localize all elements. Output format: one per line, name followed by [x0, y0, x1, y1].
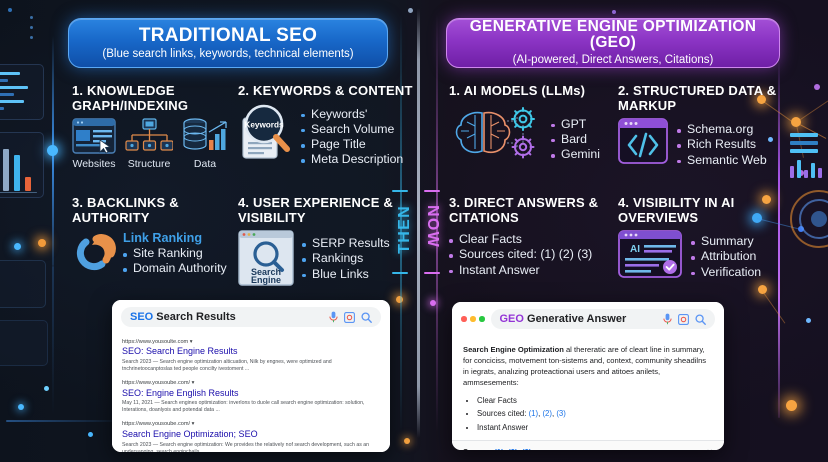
bullet-item: GPT — [551, 117, 600, 132]
network-node — [88, 432, 93, 437]
direct-answers-bullet-list: Clear Facts Sources cited: (1) (2) (3) I… — [449, 232, 624, 278]
bullet-item: Meta Description — [301, 152, 403, 167]
citation-3[interactable]: (3) — [556, 409, 566, 418]
geo-bullet-item: Instant Answer — [477, 421, 713, 434]
structure-icon-group: Structure — [125, 118, 173, 170]
now-label: NOW — [423, 205, 441, 248]
bullet-item: Summary — [691, 234, 761, 249]
source-citation-2[interactable]: (2) — [508, 448, 518, 450]
bullet-item: Site Ranking — [123, 246, 227, 261]
bullet-item: Domain Authority — [123, 261, 227, 276]
ai-models-bullet-list: GPT Bard Gemini — [551, 117, 600, 163]
circuit-rail — [6, 420, 126, 422]
quadrant-title: 3. DIRECT ANSWERS & CITATIONS — [449, 196, 624, 225]
geo-subtitle: (AI-powered, Direct Answers, Citations) — [513, 54, 714, 67]
search-result-item[interactable]: https://www.yousoube.com/ ▾ SEO: Engine … — [122, 380, 380, 414]
quadrant-ai-overviews: 4. VISIBILITY IN AI OVERVIEWS AI Summary… — [618, 196, 798, 280]
quadrant-keywords-content: 2. KEYWORDS & CONTENT Keywords Keywords'… — [238, 84, 413, 167]
quadrant-backlinks-authority: 3. BACKLINKS & AUTHORITY Link Ranking Si… — [72, 196, 237, 277]
traditional-seo-header: TRADITIONAL SEO (Blue search links, keyw… — [68, 18, 388, 68]
seo-query-rest: Search Results — [153, 311, 236, 323]
quadrant-title: 2. KEYWORDS & CONTENT — [238, 84, 413, 99]
glow-node — [18, 404, 24, 410]
geo-omnibox-text: GEO Generative Answer — [500, 313, 658, 325]
ai-overview-card-icon: AI — [618, 230, 682, 278]
structured-data-bullet-list: Schema.org Rich Results Semantic Web — [677, 122, 767, 168]
network-edge — [796, 100, 828, 123]
geo-bullet-item: Sources cited: (1), (2), (3) — [477, 407, 713, 420]
microphone-icon[interactable] — [329, 311, 338, 323]
decorative-bar — [811, 163, 815, 178]
result-url: https://www.yousoulte.com ▾ — [122, 339, 380, 346]
network-node — [404, 438, 410, 444]
backlinks-bullet-list: Site Ranking Domain Authority — [123, 246, 227, 276]
search-result-item[interactable]: https://www.yousoulte.com ▾ SEO: Search … — [122, 339, 380, 373]
microphone-icon[interactable] — [663, 313, 672, 325]
source-citation-1[interactable]: (1) — [494, 448, 504, 450]
keywords-magnifier-icon: Keywords — [238, 104, 294, 162]
bullet-item: Attribution — [691, 249, 761, 264]
geo-answer-body: Search Engine Optimization al thereratic… — [452, 335, 724, 440]
quadrant-structured-data: 2. STRUCTURED DATA & MARKUP Schema.org R… — [618, 84, 798, 168]
quadrant-title: 4. USER EXPERIENCE & VISIBILITY — [238, 196, 413, 225]
websites-icon-group: Websites — [72, 118, 116, 170]
ux-bullet-list: SERP Results Rankings Blue Links — [302, 236, 390, 282]
network-node — [814, 84, 820, 90]
geo-card-toolbar: GEO Generative Answer — [452, 302, 724, 335]
network-node — [612, 10, 616, 14]
network-node — [806, 318, 811, 323]
ai-brain-gears-icon — [449, 105, 545, 161]
network-edge — [762, 290, 786, 323]
bullet-item: Keywords' — [301, 107, 403, 122]
quadrant-title: 3. BACKLINKS & AUTHORITY — [72, 196, 237, 225]
search-engine-window-icon: Search Engine — [238, 230, 294, 286]
link-ranking-label: Link Ranking — [123, 231, 227, 245]
decorative-ring-core — [811, 211, 827, 227]
decorative-bar — [818, 168, 822, 178]
bullet-item: Instant Answer — [449, 263, 624, 278]
camera-lens-icon[interactable] — [344, 312, 355, 323]
quadrant-title: 1. AI MODELS (LLMs) — [449, 84, 614, 99]
result-snippet: Search 2023 — Search engine optimization… — [122, 359, 380, 373]
result-snippet: Search 2023 — Search engine optimization… — [122, 442, 380, 452]
backlink-chain-icon — [72, 230, 118, 274]
geo-header: GENERATIVE ENGINE OPTIMIZATION (GEO) (AI… — [446, 18, 780, 68]
source-label-group: Source: (1), (2), (3) — [463, 448, 531, 450]
dot — [30, 36, 33, 39]
code-markup-icon — [618, 118, 668, 164]
geo-source-bar[interactable]: Source: (1), (2), (3) ∨ — [452, 440, 724, 450]
result-title[interactable]: SEO: Engine English Results — [122, 388, 380, 400]
network-node — [798, 226, 804, 232]
svg-text:Engine: Engine — [251, 275, 281, 285]
database-chart-icon — [182, 118, 228, 156]
source-label: Source: — [463, 448, 494, 450]
traditional-seo-title: TRADITIONAL SEO — [139, 26, 317, 46]
geo-query-rest: Generative Answer — [524, 313, 626, 325]
network-node — [758, 285, 767, 294]
camera-lens-icon[interactable] — [678, 314, 689, 325]
quadrant-title: 4. VISIBILITY IN AI OVERVIEWS — [618, 196, 798, 225]
dot — [8, 8, 12, 12]
source-citation-3[interactable]: (3) — [522, 448, 532, 450]
bullet-item: Page Title — [301, 137, 403, 152]
geo-answer-lead: Search Engine Optimization — [463, 345, 564, 354]
bullet-item: Bard — [551, 132, 600, 147]
seo-card-toolbar: SEO Search Results — [112, 300, 390, 333]
decorative-list-panel — [0, 64, 44, 120]
quadrant-title: 2. STRUCTURED DATA & MARKUP — [618, 84, 798, 113]
circuit-rail-left-2 — [52, 266, 54, 416]
bullet-item: Rankings — [302, 251, 390, 266]
quadrant-ai-models: 1. AI MODELS (LLMs) — [449, 84, 614, 162]
bullet-item: Search Volume — [301, 122, 403, 137]
bullet-item: Sources cited: (1) (2) (3) — [449, 247, 624, 262]
geo-search-bar[interactable]: GEO Generative Answer — [491, 309, 716, 329]
sitemap-structure-icon — [125, 118, 173, 156]
seo-results-list: https://www.yousoulte.com ▾ SEO: Search … — [112, 333, 390, 452]
ai-overviews-bullet-list: Summary Attribution Verification — [691, 234, 761, 280]
glow-node — [44, 386, 49, 391]
network-edge — [796, 122, 826, 139]
keywords-bullet-list: Keywords' Search Volume Page Title Meta … — [301, 107, 403, 168]
traditional-seo-subtitle: (Blue search links, keywords, technical … — [102, 48, 353, 61]
decorative-panel — [0, 320, 48, 366]
minimize-dot-icon[interactable] — [470, 316, 476, 322]
geo-answer-bullets: Clear Facts Sources cited: (1), (2), (3)… — [463, 394, 713, 434]
geo-query-highlight: GEO — [500, 313, 524, 325]
result-snippet: May 11, 2021 — Search engines optimizati… — [122, 400, 380, 414]
glow-node — [38, 239, 46, 247]
bullet-item: Semantic Web — [677, 153, 767, 168]
decorative-bar — [804, 170, 808, 178]
decorative-bar — [790, 166, 794, 178]
data-icon-group: Data — [182, 118, 228, 170]
website-window-icon — [72, 118, 116, 156]
icon-label: Data — [194, 158, 216, 170]
decorative-panel — [0, 260, 46, 308]
network-node — [408, 8, 413, 13]
quadrant-user-experience: 4. USER EXPERIENCE & VISIBILITY Search E… — [238, 196, 413, 286]
bullet-item: Verification — [691, 265, 761, 280]
geo-generative-answer-card[interactable]: GEO Generative Answer Search Engine Opti… — [452, 302, 724, 450]
bullet-item: Clear Facts — [449, 232, 624, 247]
bullet-item: SERP Results — [302, 236, 390, 251]
geo-bullet-text: Sources cited: — [477, 409, 529, 418]
dot — [30, 26, 33, 29]
search-result-item[interactable]: https://www.yousoube.com/ ▾ Search Engin… — [122, 421, 380, 452]
circuit-rail-left — [52, 36, 54, 266]
result-title[interactable]: Search Engine Optimization; SEO — [122, 429, 380, 441]
quadrant-knowledge-graph: 1. KNOWLEDGE GRAPH/INDEXING Websites — [72, 84, 237, 170]
infographic-canvas: THEN NOW TRADITIONAL SEO (Blue search li… — [0, 0, 828, 462]
seo-query-highlight: SEO — [130, 311, 153, 323]
bullet-item: Gemini — [551, 147, 600, 162]
bullet-item: Schema.org — [677, 122, 767, 137]
quadrant-direct-answers: 3. DIRECT ANSWERS & CITATIONS Clear Fact… — [449, 196, 624, 278]
result-title[interactable]: SEO: Search Engine Results — [122, 346, 380, 358]
geo-title: GENERATIVE ENGINE OPTIMIZATION (GEO) — [447, 19, 779, 52]
network-node — [798, 170, 804, 176]
bullet-item: Rich Results — [677, 137, 767, 152]
result-url: https://www.yousoube.com/ ▾ — [122, 421, 380, 428]
search-icon[interactable] — [361, 312, 372, 323]
chevron-down-icon[interactable]: ∨ — [706, 447, 713, 450]
seo-omnibox-text: SEO Search Results — [130, 311, 323, 323]
icon-label: Structure — [128, 158, 171, 170]
seo-search-results-card[interactable]: SEO Search Results https://www.yousoulte… — [112, 300, 390, 452]
window-traffic-lights — [461, 316, 485, 322]
decorative-ring — [799, 199, 828, 239]
seo-search-bar[interactable]: SEO Search Results — [121, 307, 381, 327]
svg-text:AI: AI — [630, 244, 640, 255]
maximize-dot-icon[interactable] — [479, 316, 485, 322]
close-dot-icon[interactable] — [461, 316, 467, 322]
geo-bullet-text: Instant Answer — [477, 423, 528, 432]
network-node — [786, 400, 797, 411]
glow-node — [47, 145, 58, 156]
geo-bullet-item: Clear Facts — [477, 394, 713, 407]
quadrant-title: 1. KNOWLEDGE GRAPH/INDEXING — [72, 84, 237, 113]
geo-bullet-text: Clear Facts — [477, 396, 517, 405]
citation-2[interactable]: (2) — [542, 409, 552, 418]
timeline-divider — [417, 8, 420, 438]
icon-label: Websites — [73, 158, 116, 170]
result-url: https://www.yousoube.com/ ▾ — [122, 380, 380, 387]
citation-1[interactable]: (1) — [529, 409, 539, 418]
dot — [30, 16, 33, 19]
search-icon[interactable] — [695, 314, 706, 325]
glow-node — [14, 243, 21, 250]
svg-text:Keywords: Keywords — [244, 120, 284, 129]
divider-glow-right — [436, 14, 438, 432]
bullet-item: Blue Links — [302, 267, 390, 282]
decorative-bar-chart-panel — [0, 132, 44, 198]
geo-answer-paragraph: Search Engine Optimization al thereratic… — [463, 344, 713, 388]
